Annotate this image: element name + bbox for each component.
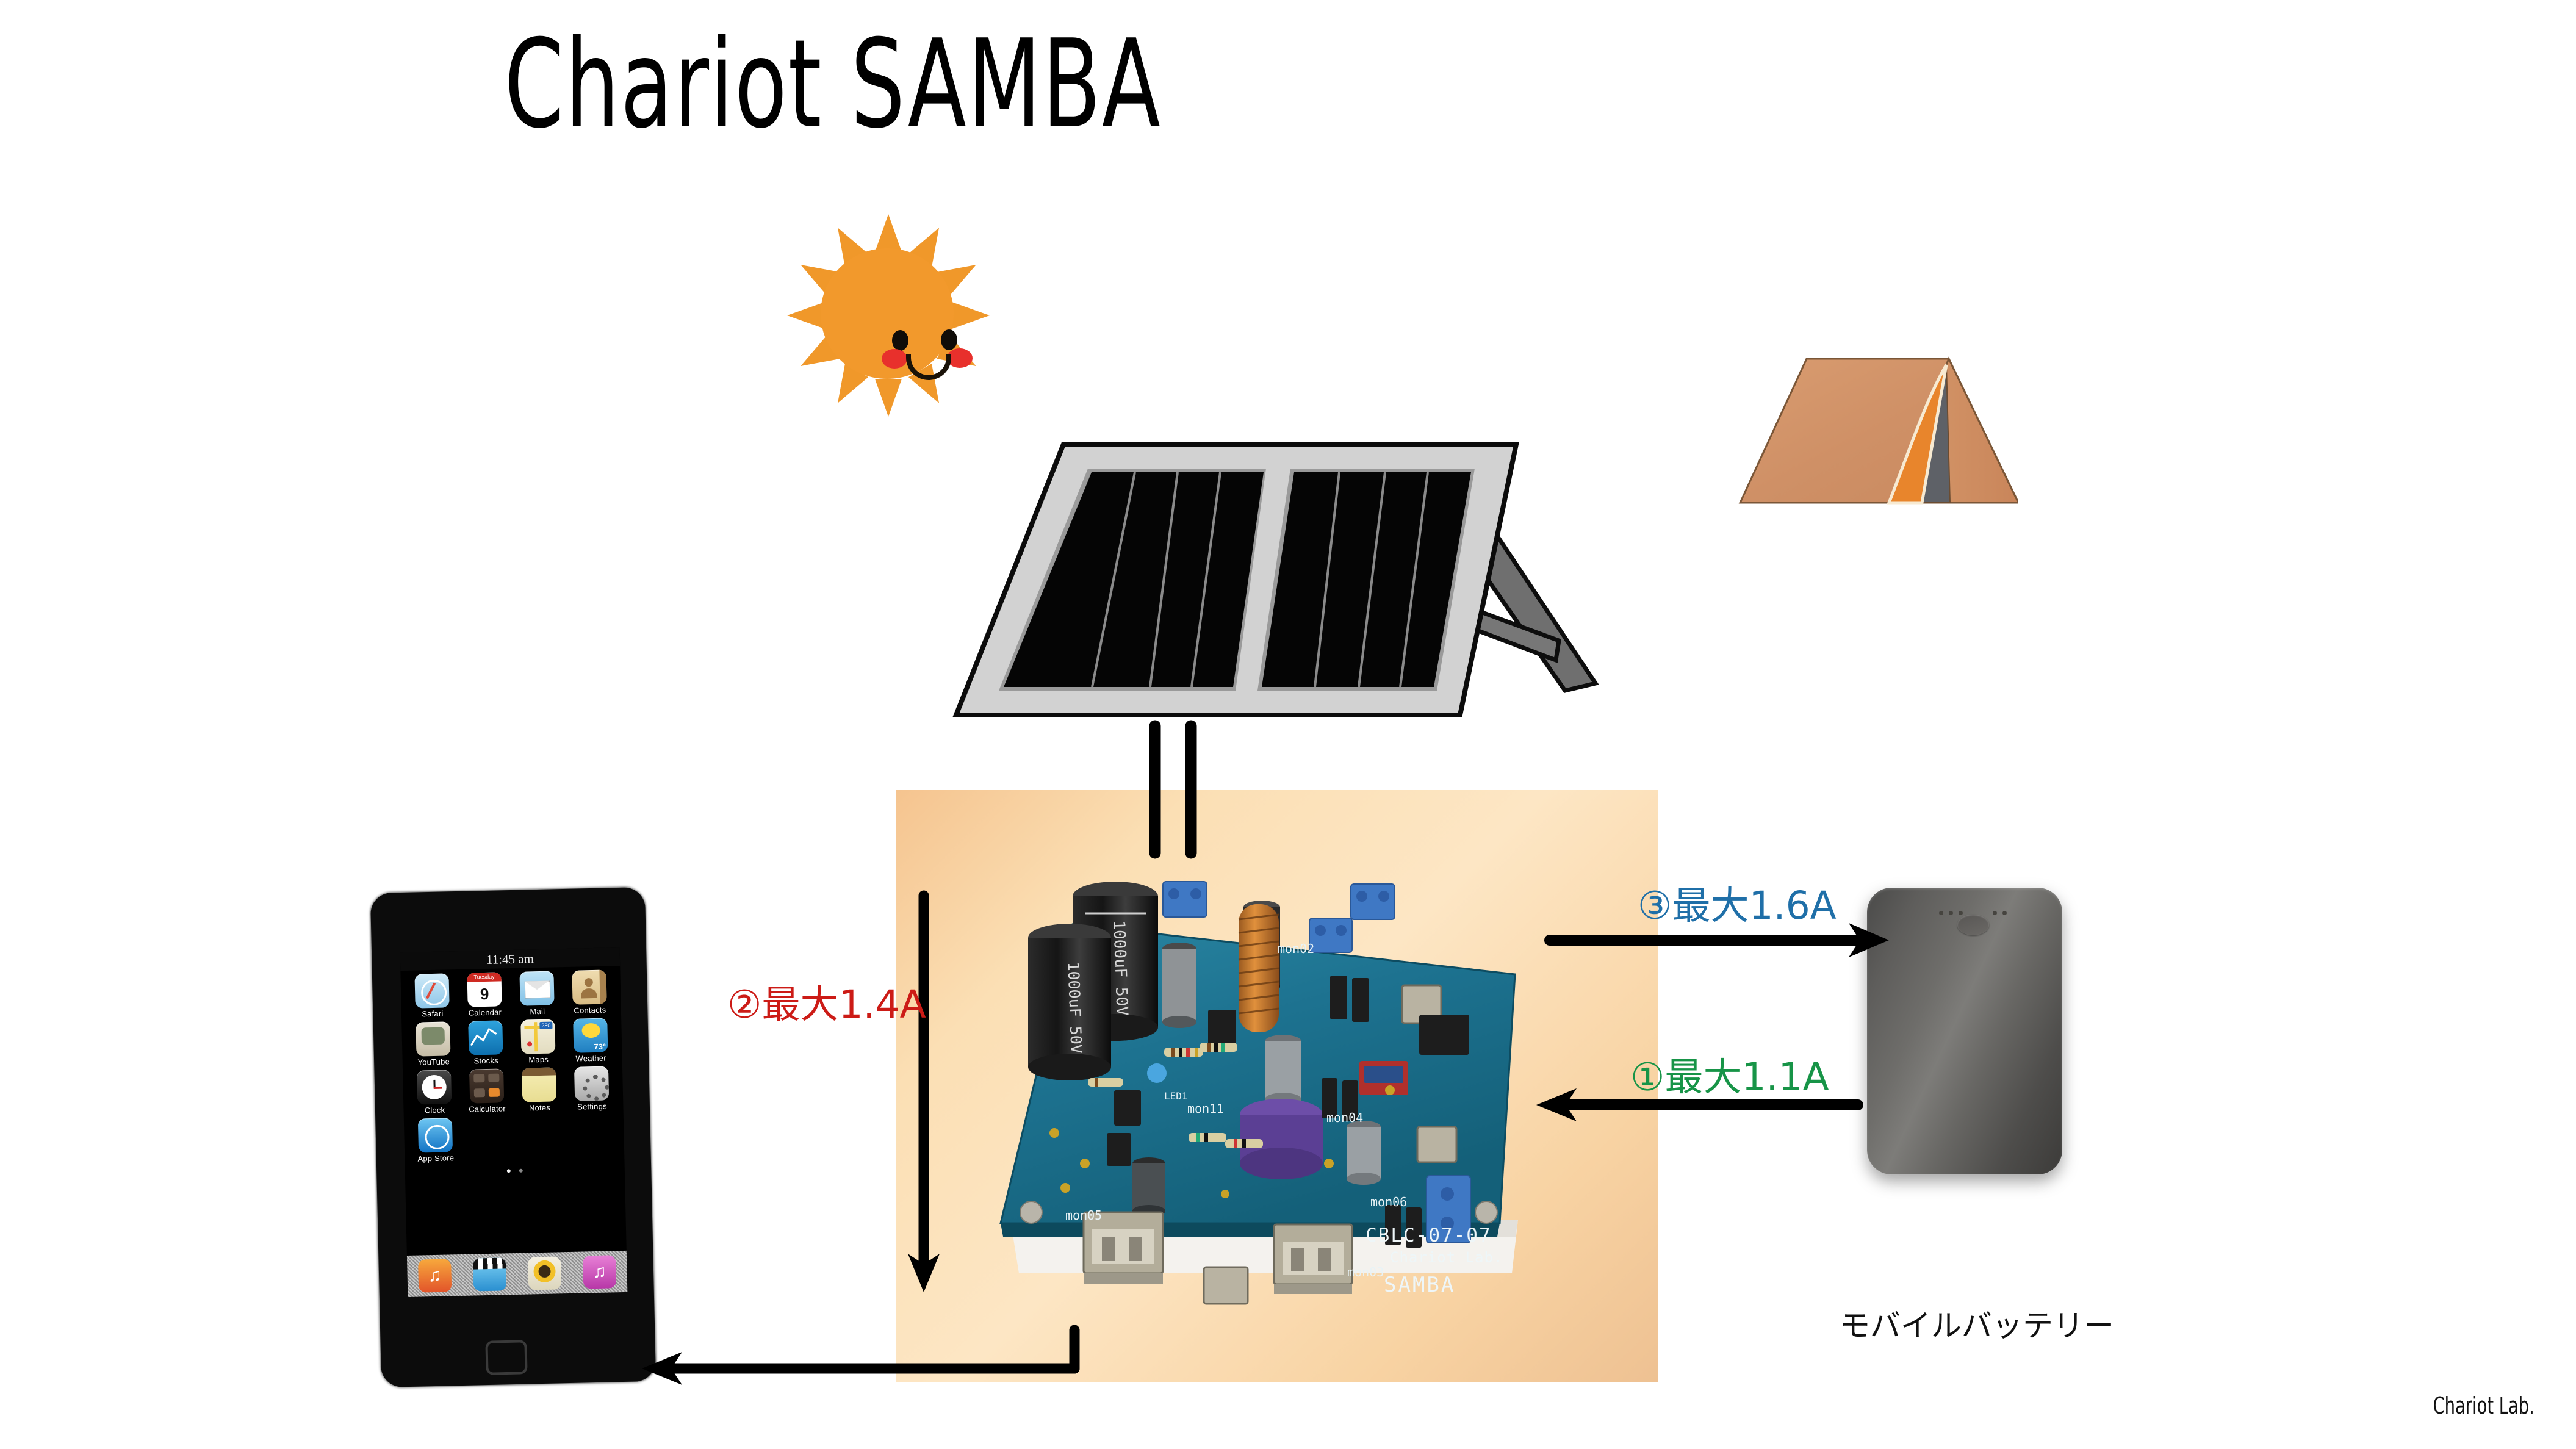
mail-icon[interactable] xyxy=(519,971,554,1005)
appstore-icon[interactable] xyxy=(418,1118,453,1152)
safari-icon[interactable] xyxy=(414,973,449,1008)
app-grid: SafariTuesday9CalendarMailContactsYouTub… xyxy=(400,966,624,1163)
sun-cheek-left xyxy=(882,349,907,369)
app-label: Calculator xyxy=(462,1104,512,1114)
app-maps[interactable]: 280Maps xyxy=(513,1019,564,1065)
silk-samba: SAMBA xyxy=(1384,1273,1455,1297)
maps-icon[interactable]: 280 xyxy=(520,1019,555,1054)
silk-lab: Chariot Lab. xyxy=(1390,1249,1503,1266)
svg-text:1000uF 50V: 1000uF 50V xyxy=(1064,962,1085,1054)
app-contacts[interactable]: Contacts xyxy=(564,969,615,1015)
app-label: Safari xyxy=(408,1009,458,1019)
app-calendar[interactable]: Tuesday9Calendar xyxy=(459,972,510,1018)
page-dot-2 xyxy=(519,1169,523,1173)
silk-partnumber: CBLC-07-07 xyxy=(1365,1224,1492,1246)
music-icon[interactable]: ♫ xyxy=(418,1259,452,1292)
dock: ♫♫ xyxy=(407,1251,627,1297)
app-label: Contacts xyxy=(565,1005,615,1015)
battery-led-1 xyxy=(1939,911,1943,915)
sun-ray-4 xyxy=(952,302,990,329)
calculator-icon[interactable] xyxy=(469,1068,504,1103)
ipod-screen[interactable]: 11:45 am SafariTuesday9CalendarMailConta… xyxy=(400,947,628,1297)
app-label: Mail xyxy=(513,1006,563,1016)
photos-icon[interactable] xyxy=(528,1256,561,1290)
silk-mon06: mon06 xyxy=(1370,1195,1407,1209)
app-calculator[interactable]: Calculator xyxy=(461,1068,513,1114)
silk-mon03: mon03 xyxy=(1347,1265,1384,1279)
app-label: Calendar xyxy=(460,1007,510,1018)
app-stocks[interactable]: Stocks xyxy=(460,1020,511,1066)
flow-label-3: ③最大1.6A xyxy=(1638,875,1837,930)
page-dot-1 xyxy=(507,1169,511,1173)
sun-ray-7 xyxy=(875,379,902,417)
flow-label-2: ②最大1.4A xyxy=(727,974,926,1029)
calendar-icon[interactable]: Tuesday9 xyxy=(467,972,502,1007)
app-label: Notes xyxy=(514,1102,564,1113)
app-label: Weather xyxy=(566,1053,616,1063)
battery-caption: モバイルバッテリー xyxy=(1788,1301,2166,1345)
power-button[interactable] xyxy=(1957,915,1989,935)
sun-eye-left xyxy=(892,330,908,351)
app-label: App Store xyxy=(411,1153,461,1163)
home-button[interactable] xyxy=(485,1340,527,1375)
ipod-touch-device[interactable]: 11:45 am SafariTuesday9CalendarMailConta… xyxy=(376,890,650,1384)
page-dots xyxy=(405,1162,625,1178)
youtube-icon[interactable] xyxy=(416,1021,450,1056)
page-title: Chariot SAMBA xyxy=(183,13,1482,156)
weather-icon[interactable]: 73° xyxy=(573,1018,608,1052)
solar-panel xyxy=(949,427,1644,732)
app-label: Maps xyxy=(514,1054,564,1065)
mobile-battery-photo xyxy=(1832,854,2120,1290)
power-bank-body xyxy=(1867,888,2062,1174)
stocks-icon[interactable] xyxy=(468,1020,503,1055)
clock-icon[interactable] xyxy=(417,1070,452,1104)
contacts-icon[interactable] xyxy=(572,970,606,1005)
silk-mon04: mon04 xyxy=(1326,1110,1363,1125)
sun-body xyxy=(821,248,954,379)
svg-text:1000uF 50V: 1000uF 50V xyxy=(1109,920,1131,1016)
app-label: YouTube xyxy=(409,1057,459,1067)
app-settings[interactable]: Settings xyxy=(566,1066,617,1112)
silk-mon02: mon02 xyxy=(1278,941,1314,956)
app-app-store[interactable]: App Store xyxy=(410,1118,461,1163)
notes-icon[interactable] xyxy=(522,1067,556,1102)
silk-mon11: mon11 xyxy=(1187,1101,1224,1116)
settings-icon[interactable] xyxy=(574,1066,609,1101)
app-weather[interactable]: 73°Weather xyxy=(565,1018,616,1063)
sun-ray-10 xyxy=(787,302,825,329)
app-mail[interactable]: Mail xyxy=(511,971,563,1016)
app-youtube[interactable]: YouTube xyxy=(408,1021,459,1067)
battery-led-4 xyxy=(1993,911,1997,915)
itunes-icon[interactable]: ♫ xyxy=(583,1255,616,1289)
app-notes[interactable]: Notes xyxy=(514,1067,565,1113)
footer-credit: Chariot Lab. xyxy=(2433,1392,2535,1419)
silk-led1: LED1 xyxy=(1164,1090,1188,1102)
flow-label-1: ①最大1.1A xyxy=(1630,1046,1829,1102)
battery-led-3 xyxy=(1959,911,1963,915)
app-label: Settings xyxy=(567,1101,617,1112)
battery-led-5 xyxy=(2002,911,2007,915)
sun-icon xyxy=(785,215,992,416)
app-clock[interactable]: Clock xyxy=(409,1070,460,1115)
sun-eye-right xyxy=(941,329,957,350)
sun-ray-1 xyxy=(875,214,902,252)
app-safari[interactable]: Safari xyxy=(406,973,458,1019)
videos-icon[interactable] xyxy=(473,1257,506,1291)
samba-board-photo: 1000uF 50V 1000uF 50V xyxy=(896,790,1658,1382)
app-label: Stocks xyxy=(461,1055,511,1066)
app-label: Clock xyxy=(409,1105,459,1115)
samba-pcb: 1000uF 50V 1000uF 50V xyxy=(963,846,1579,1316)
tent-icon xyxy=(1732,327,2018,510)
silk-mon05: mon05 xyxy=(1065,1208,1102,1223)
battery-led-2 xyxy=(1949,911,1953,915)
